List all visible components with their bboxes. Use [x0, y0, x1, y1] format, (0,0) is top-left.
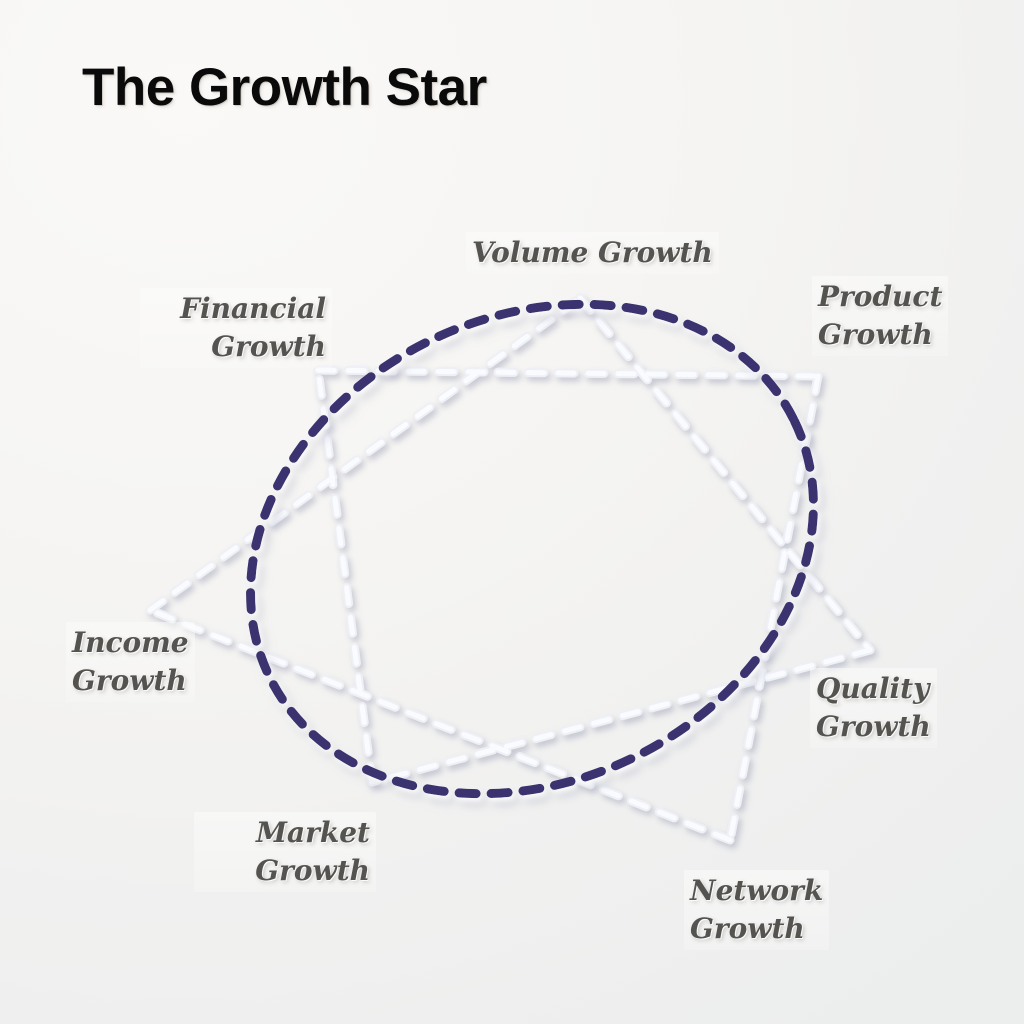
- vertex-label-network-growth: Network Growth: [684, 870, 829, 950]
- vertex-label-quality-growth: Quality Growth: [810, 668, 937, 748]
- vertex-label-income-growth: Income Growth: [66, 622, 195, 702]
- growth-star-diagram: [0, 0, 1024, 1024]
- vertex-label-market-growth: Market Growth: [194, 812, 376, 892]
- vertex-label-volume-growth: Volume Growth: [466, 232, 719, 274]
- diagram-canvas: The Growth Star: [0, 0, 1024, 1024]
- vertex-label-financial-growth: Financial Growth: [140, 288, 332, 368]
- star-line-highlight-3: [318, 370, 372, 782]
- vertex-label-product-growth: Product Growth: [812, 276, 948, 356]
